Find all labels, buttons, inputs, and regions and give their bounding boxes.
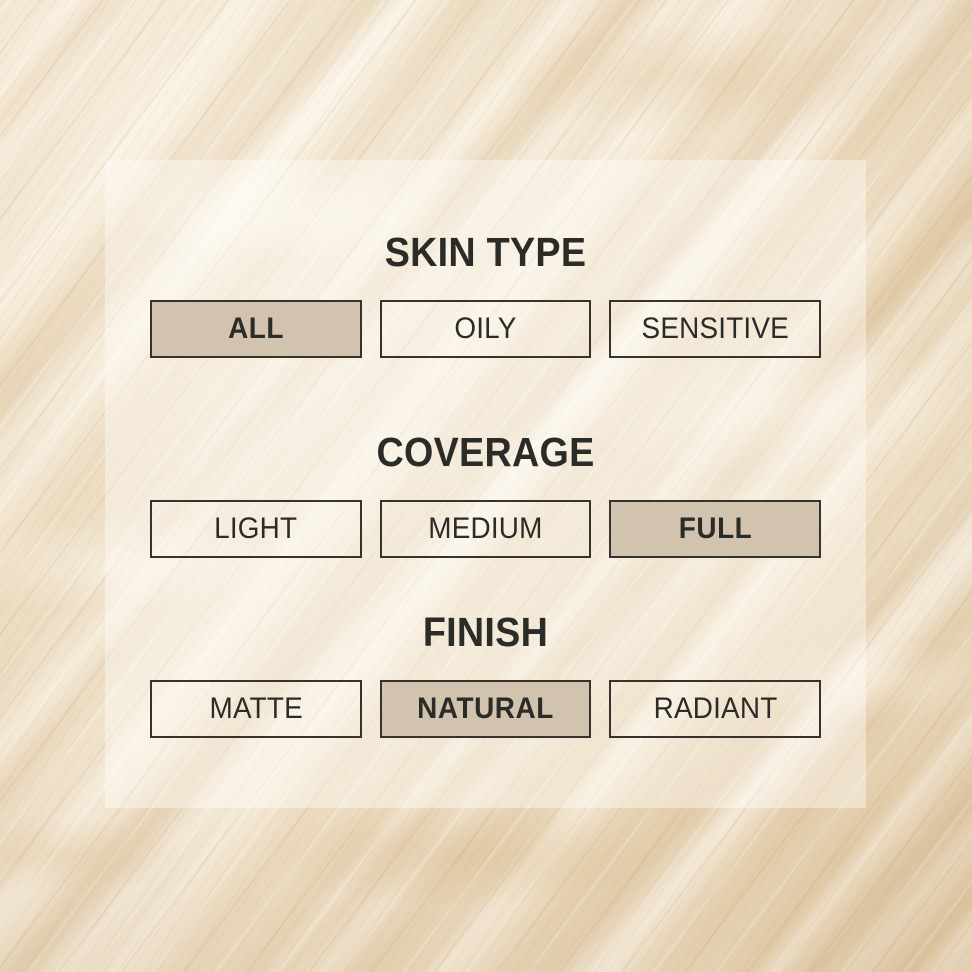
filter-groups-container: SKIN TYPE ALL OILY SENSITIVE COVERAGE LI…	[150, 160, 821, 808]
chip-label: LIGHT	[214, 514, 297, 544]
chip-skin-type-all[interactable]: ALL	[150, 300, 362, 358]
chip-label: ALL	[228, 314, 284, 344]
chip-row-coverage: LIGHT MEDIUM FULL	[150, 500, 821, 558]
group-title-coverage: COVERAGE	[177, 432, 794, 473]
chip-label: SENSITIVE	[641, 314, 788, 344]
chip-finish-radiant[interactable]: RADIANT	[609, 680, 821, 738]
chip-skin-type-oily[interactable]: OILY	[380, 300, 592, 358]
chip-label: FULL	[678, 514, 752, 544]
chip-label: OILY	[454, 314, 516, 344]
filter-group-coverage: COVERAGE LIGHT MEDIUM FULL	[150, 432, 821, 558]
chip-finish-natural[interactable]: NATURAL	[380, 680, 592, 738]
group-title-skin-type: SKIN TYPE	[177, 232, 794, 273]
foundation-filter-card: SKIN TYPE ALL OILY SENSITIVE COVERAGE LI…	[0, 0, 972, 972]
filter-group-finish: FINISH MATTE NATURAL RADIANT	[150, 612, 821, 738]
chip-row-finish: MATTE NATURAL RADIANT	[150, 680, 821, 738]
filter-group-skin-type: SKIN TYPE ALL OILY SENSITIVE	[150, 232, 821, 358]
chip-coverage-medium[interactable]: MEDIUM	[380, 500, 592, 558]
chip-label: MATTE	[209, 694, 302, 724]
chip-label: RADIANT	[653, 694, 777, 724]
chip-coverage-light[interactable]: LIGHT	[150, 500, 362, 558]
chip-skin-type-sensitive[interactable]: SENSITIVE	[609, 300, 821, 358]
chip-label: MEDIUM	[428, 514, 542, 544]
chip-coverage-full[interactable]: FULL	[609, 500, 821, 558]
chip-row-skin-type: ALL OILY SENSITIVE	[150, 300, 821, 358]
chip-label: NATURAL	[417, 694, 554, 724]
chip-finish-matte[interactable]: MATTE	[150, 680, 362, 738]
group-title-finish: FINISH	[177, 612, 794, 653]
